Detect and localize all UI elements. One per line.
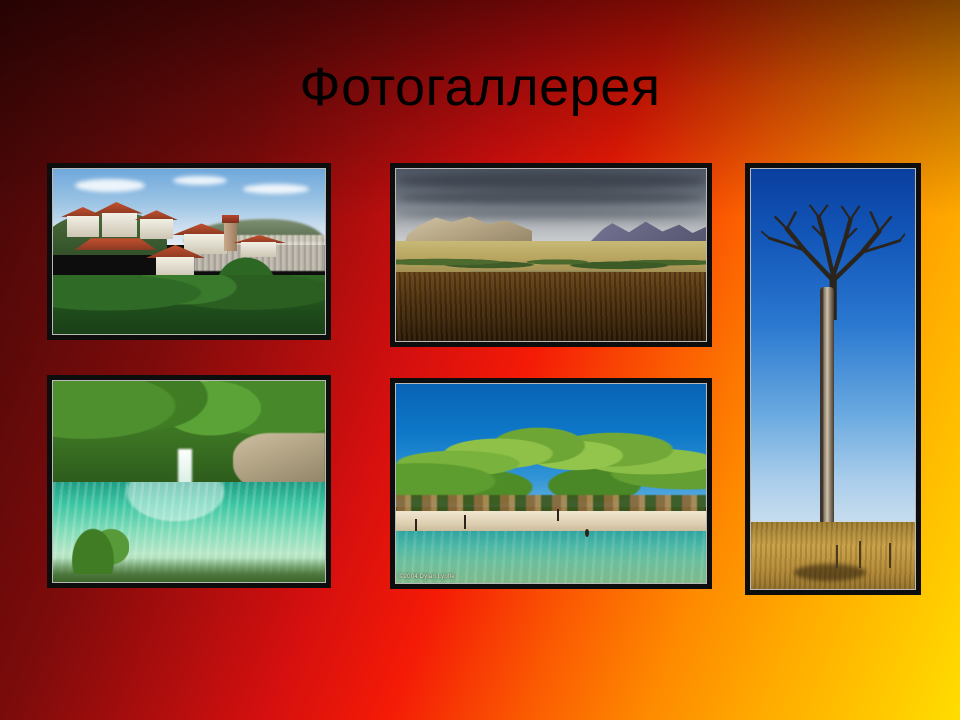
photo-image-tropical-beach: ©2004 Dylan Lyotle <box>396 384 706 583</box>
vegetation-layer <box>53 275 325 334</box>
photo-baobab-tree[interactable] <box>745 163 921 595</box>
house-wall <box>102 213 137 238</box>
photo-image-hill-town <box>53 169 325 334</box>
slide-background: Фотогаллерея <box>0 0 960 720</box>
sand-beach-layer <box>396 511 706 531</box>
storm-cloud <box>396 172 706 189</box>
photo-hill-town[interactable] <box>47 163 331 340</box>
tree-trunk <box>820 287 834 539</box>
photo-mat <box>52 380 326 583</box>
photo-image-baobab-tree <box>751 169 915 589</box>
storm-cloud <box>396 209 706 219</box>
person-figure <box>836 545 838 568</box>
house-wall <box>140 219 173 239</box>
page-title: Фотогаллерея <box>0 56 960 118</box>
person-figure <box>557 509 559 521</box>
photo-highland-landscape[interactable] <box>390 163 712 347</box>
person-figure <box>464 515 466 529</box>
photo-mat <box>395 168 707 342</box>
photo-mat <box>750 168 916 590</box>
photo-mat: ©2004 Dylan Lyotle <box>395 383 707 584</box>
person-figure <box>415 519 417 531</box>
cloud-shape <box>243 184 308 194</box>
foreground-grass-layer <box>396 272 706 341</box>
photo-mat <box>52 168 326 335</box>
photo-tropical-beach[interactable]: ©2004 Dylan Lyotle <box>390 378 712 589</box>
person-figure <box>859 541 861 568</box>
photo-image-turquoise-pool <box>53 381 325 582</box>
church-tower <box>224 223 238 251</box>
tree-shadow <box>794 564 866 581</box>
photo-image-highland-landscape <box>396 169 706 341</box>
photo-turquoise-pool[interactable] <box>47 375 331 588</box>
reeds-foreground <box>69 506 129 574</box>
house-wall <box>67 216 100 237</box>
waterfall <box>178 449 192 485</box>
photo-watermark: ©2004 Dylan Lyotle <box>399 573 455 581</box>
person-figure <box>889 543 891 568</box>
